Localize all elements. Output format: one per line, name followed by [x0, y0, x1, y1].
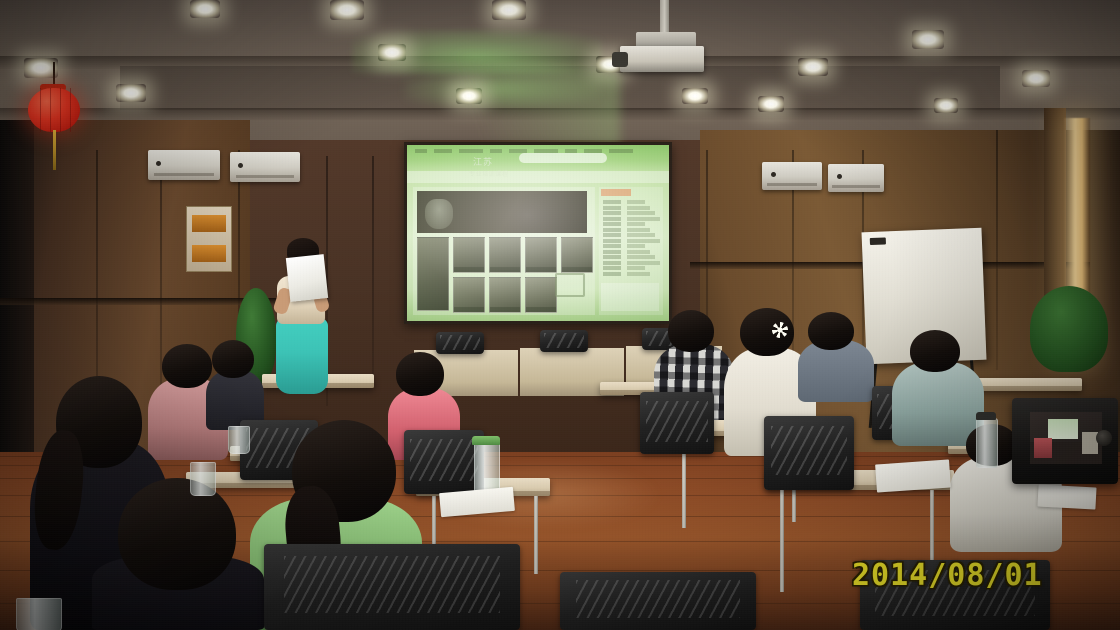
- screen-sidebar-row-value-7: [627, 233, 655, 237]
- screen-nav-item-7: [565, 149, 577, 153]
- camcorder-lens: [1096, 430, 1112, 446]
- screen-sidebar-row-value-4: [627, 217, 660, 221]
- wall-plaque: [186, 206, 232, 272]
- projector-mount-pole: [660, 0, 669, 34]
- attendee-bottom-left-head: [118, 478, 236, 590]
- whiteboard-clip: [870, 237, 886, 245]
- screen-sidebar-row-value-6: [627, 228, 650, 232]
- screen-sidebar-row-value-10: [627, 250, 650, 254]
- screen-sidebar-row-value-12: [627, 261, 660, 265]
- screen-thumbnail-caption: [526, 307, 556, 312]
- paper-lantern: [28, 88, 80, 132]
- chair: [640, 392, 714, 454]
- date-stamp: 2014/08/01: [852, 558, 1043, 593]
- screen-sidebar-row-label-2: [603, 206, 621, 210]
- screen-sidebar-row-label-11: [603, 255, 621, 259]
- screen-sidebar-row-value-14: [627, 272, 650, 276]
- screen-nav-bar: [407, 171, 669, 183]
- lantern-tassel: [53, 130, 56, 170]
- chair: [264, 544, 520, 630]
- screen-placeholder-box: [555, 273, 585, 297]
- ceiling-downlight-9: [758, 96, 784, 112]
- bottle-lid-green: [472, 436, 500, 445]
- screen-thumbnail-caption: [562, 267, 592, 272]
- screen-sidebar-row-label-13: [603, 266, 621, 270]
- projector: [620, 46, 704, 72]
- potted-plant: [1030, 286, 1108, 372]
- projection-screen: 江苏 专业培训课程: [407, 145, 669, 321]
- screen-sidebar-row-value-2: [627, 206, 650, 210]
- screen-sidebar-row-label-6: [603, 228, 621, 232]
- screen-nav-item-6: [534, 149, 558, 153]
- presenter-papers: [286, 254, 328, 302]
- screen-sidebar-row-value-5: [627, 222, 645, 226]
- chair: [560, 572, 756, 630]
- screen-nav-item-4: [490, 149, 502, 153]
- screen-sidebar-row-label-12: [603, 261, 621, 265]
- water-bottle: [976, 418, 998, 468]
- screen-sidebar-row-label-4: [603, 217, 621, 221]
- air-conditioner-unit: [762, 162, 822, 190]
- screen-sidebar-row-value-9: [627, 244, 645, 248]
- drinking-cup: [190, 462, 216, 496]
- screen-sidebar-row-value-1: [627, 200, 645, 204]
- desk-leg: [780, 490, 784, 592]
- screen-nav-item-2: [434, 149, 452, 153]
- screen-sidebar-row-label-3: [603, 211, 621, 215]
- attendee-teal-head: [910, 330, 960, 372]
- ceiling-downlight-12: [1022, 70, 1050, 87]
- camcorder-preview-person: [1034, 438, 1052, 458]
- wall-panel-seam: [996, 130, 998, 370]
- screen-sidebar-row-label-9: [603, 244, 621, 248]
- flower-hairpin: [772, 322, 788, 338]
- screen-thumbnail-caption: [490, 267, 520, 272]
- projector-lens: [612, 52, 628, 67]
- photograph: 江苏 专业培训课程: [0, 0, 1120, 630]
- screen-nav-item-5: [509, 149, 527, 153]
- open-notebook: [875, 459, 951, 492]
- ceiling-downlight-2: [116, 84, 146, 102]
- attendee-pink2-head: [396, 352, 444, 396]
- attendee-dark-head: [212, 340, 254, 378]
- screen-thumbnail-7: [525, 277, 557, 313]
- attendee-grey-head: [808, 312, 854, 350]
- screen-thumbnail-caption: [454, 307, 484, 312]
- screen-thumbnail-caption: [490, 307, 520, 312]
- screen-nav-item-1: [415, 149, 427, 153]
- screen-banner: [417, 191, 587, 233]
- desk-leg: [534, 496, 538, 574]
- paper-sheet: [1037, 484, 1096, 509]
- screen-thumbnail-5: [453, 277, 485, 313]
- ceiling-downlight-6: [492, 0, 526, 20]
- screen-thumbnail-caption: [454, 267, 484, 272]
- screen-sidebar-row-value-11: [627, 255, 655, 259]
- screen-sidebar-row-label-7: [603, 233, 621, 237]
- screen-sidebar-row-label-5: [603, 222, 621, 226]
- screen-sidebar-header: [601, 189, 631, 196]
- chair: [436, 332, 484, 354]
- ceiling-downlight-14: [934, 98, 958, 113]
- wall-panel-seam: [372, 156, 374, 386]
- screen-nav-item-3: [459, 149, 483, 153]
- ceiling-downlight-3: [330, 0, 364, 20]
- screen-sidebar-row-label-10: [603, 250, 621, 254]
- ceiling-downlight-10: [798, 58, 828, 76]
- ceiling-downlight-13: [190, 0, 220, 18]
- screen-sidebar-row-label-1: [603, 200, 621, 204]
- screen-thumbnail-1: [453, 237, 485, 273]
- attendee-plaid-shirt-head: [668, 310, 714, 352]
- screen-thumbnail-6: [489, 277, 521, 313]
- air-conditioner-unit: [230, 152, 300, 182]
- screen-nav-item-8: [584, 149, 602, 153]
- screen-thumbnail-3: [525, 237, 557, 273]
- screen-sidebar-row-value-3: [627, 211, 655, 215]
- screen-feature-portrait: [417, 237, 449, 311]
- drinking-cup: [228, 426, 250, 454]
- ceiling-downlight-11: [912, 30, 944, 49]
- bottle-lid: [976, 412, 996, 420]
- air-conditioner-unit: [828, 164, 884, 192]
- screen-thumbnail-4: [561, 237, 593, 273]
- attendee-pink-head: [162, 344, 212, 388]
- screen-banner-title: 江苏: [473, 155, 493, 168]
- screen-sidebar-row-label-8: [603, 239, 621, 243]
- camcorder-lcd-screen: [1030, 412, 1102, 464]
- chair: [764, 416, 854, 490]
- screen-banner-subtitle: 专业培训课程: [469, 169, 509, 178]
- ceiling-downlight-8: [682, 88, 708, 104]
- projection-screen-frame: 江苏 专业培训课程: [404, 142, 672, 324]
- screen-thumbnail-2: [489, 237, 521, 273]
- air-conditioner-unit: [148, 150, 220, 180]
- presenter-skirt: [276, 318, 328, 394]
- screen-sidebar-row-label-14: [603, 272, 621, 276]
- screen-sidebar-row-value-13: [627, 266, 645, 270]
- screen-banner-portrait: [425, 199, 453, 229]
- camcorder-preview-screen: [1048, 419, 1078, 439]
- chair: [540, 330, 588, 352]
- screen-thumbnail-caption: [526, 267, 556, 272]
- screen-sidebar-row-value-8: [627, 239, 660, 243]
- drinking-cup: [16, 598, 62, 630]
- screen-sidebar-panel: [601, 283, 659, 311]
- screen-search-box: [519, 153, 607, 163]
- ceiling-downlight-4: [378, 44, 406, 61]
- desk: [972, 378, 1082, 391]
- screen-nav-item-9: [609, 149, 633, 153]
